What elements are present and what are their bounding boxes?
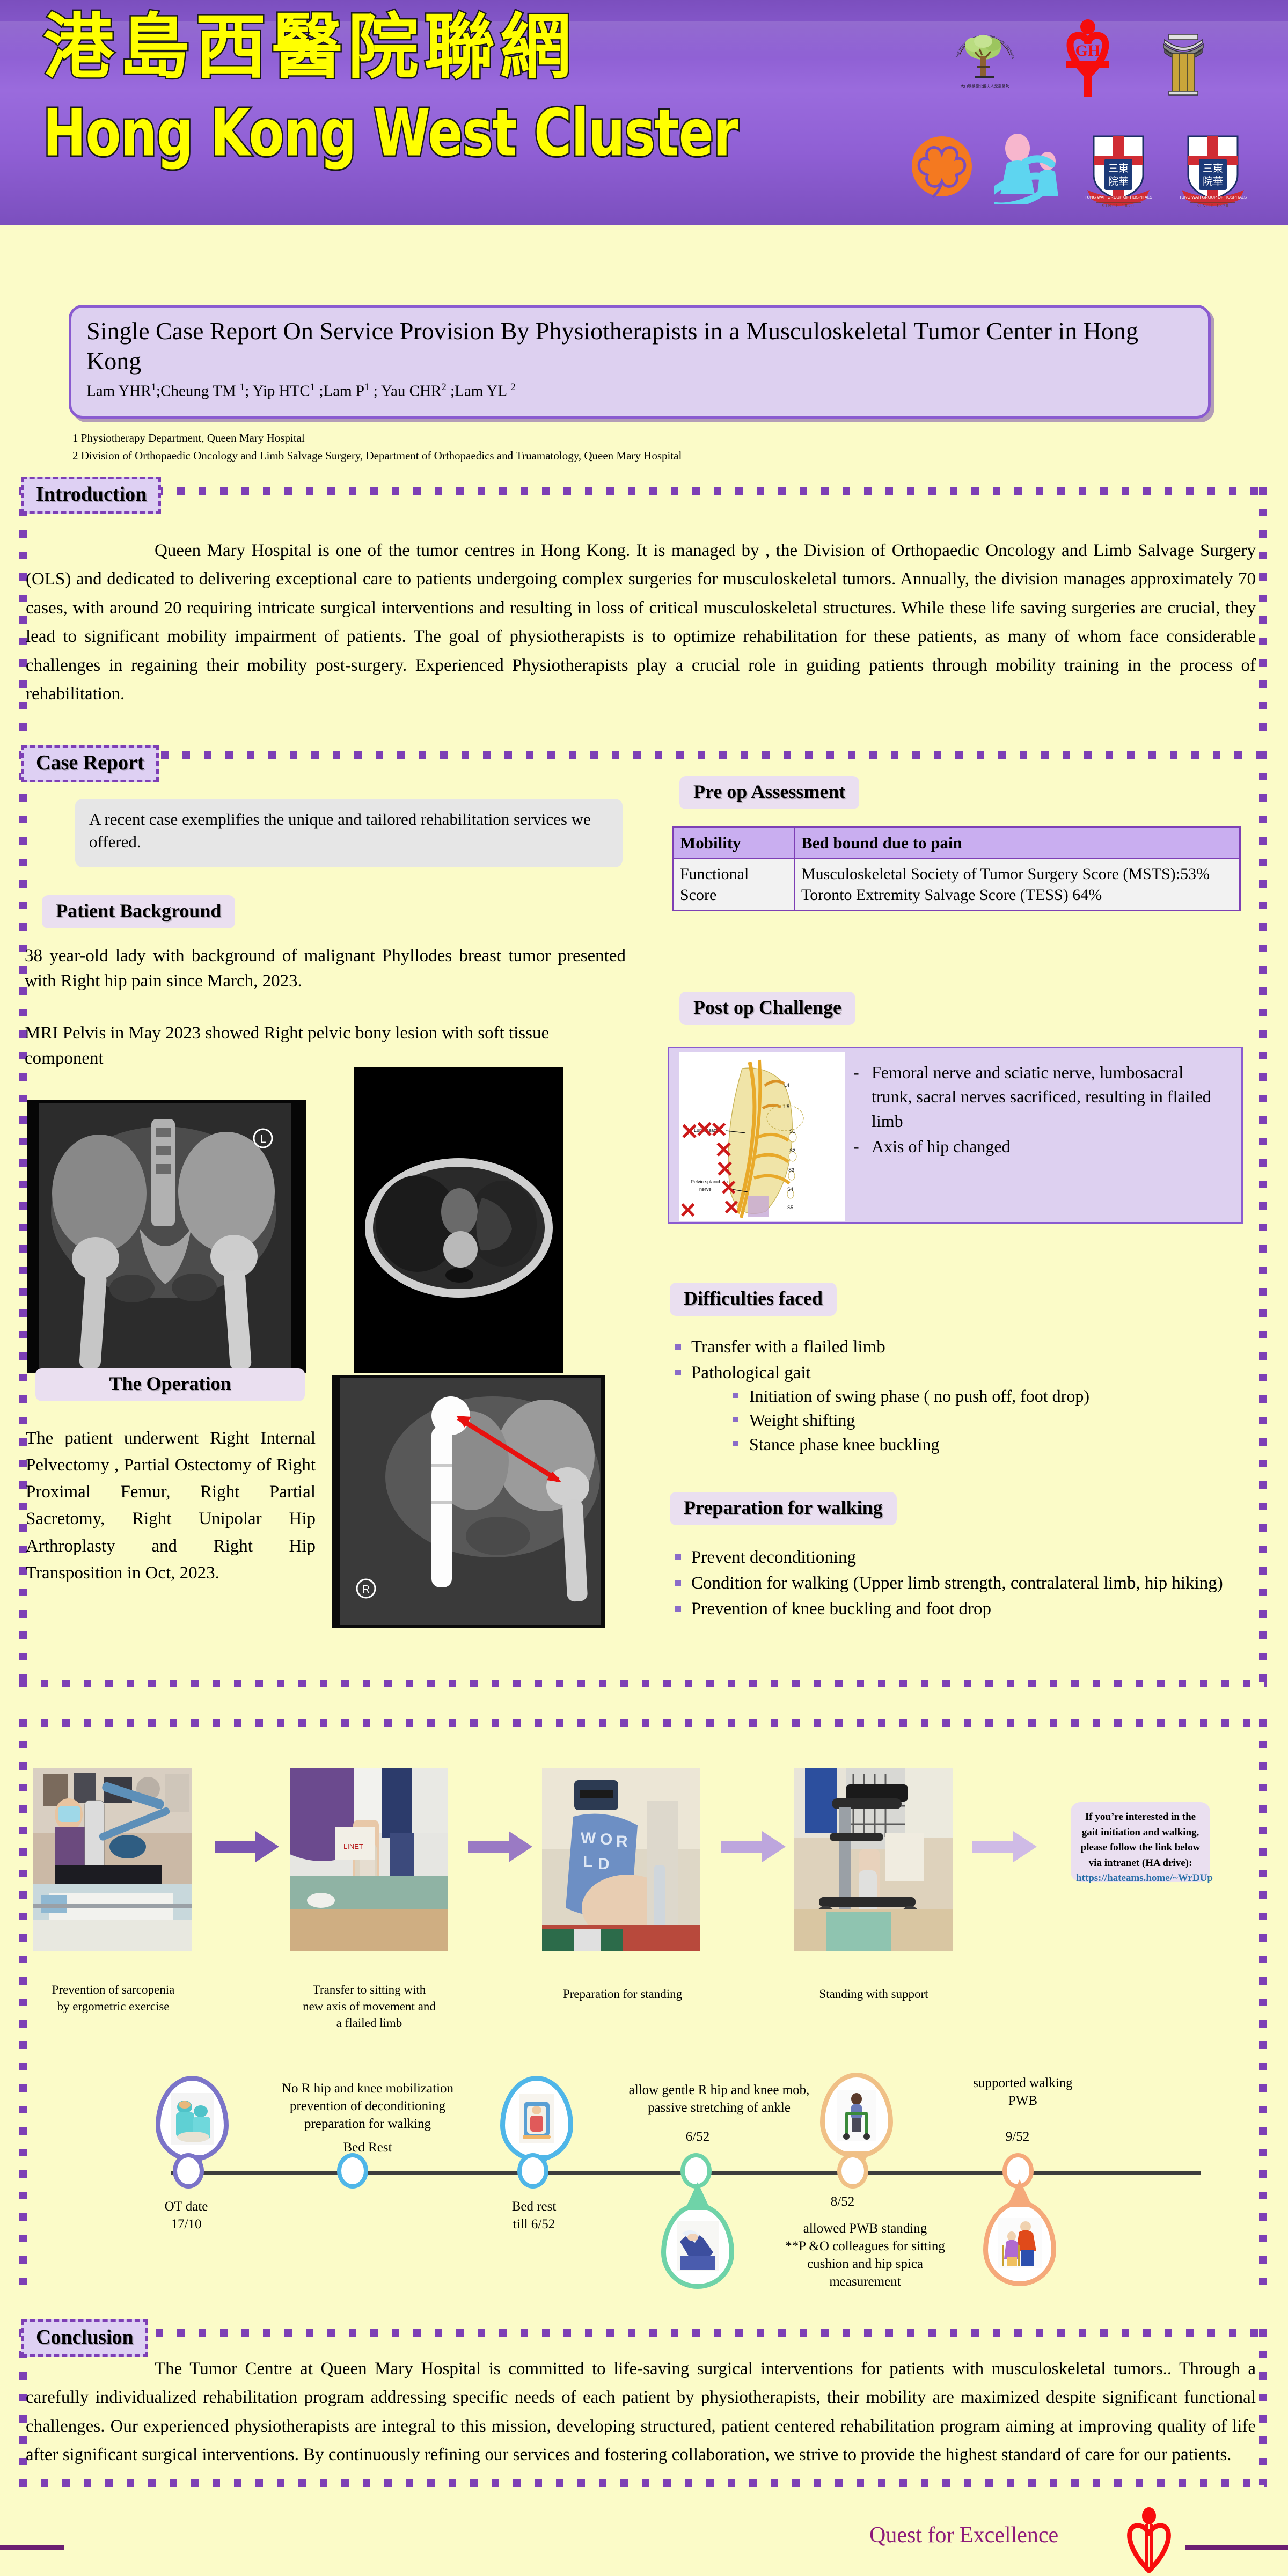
difficulty-2-sub-3: Stance phase knee buckling (749, 1435, 940, 1454)
assisted-walking-icon (998, 2218, 1042, 2268)
case-intro-box: A recent case exemplifies the unique and… (75, 799, 623, 867)
timeline-node-3[interactable] (517, 2153, 548, 2189)
tsan-yuk-hospital-logo (908, 134, 976, 202)
standing-frame-icon (837, 2090, 876, 2141)
conclusion-border-bottom (19, 2479, 1267, 2487)
svg-text:W: W (581, 1829, 596, 1847)
subsection-tag-preparation: Preparation for walking (670, 1492, 897, 1525)
preop-key-mobility: Mobility (673, 828, 795, 859)
list-item: Condition for walking (Upper limb streng… (669, 1571, 1254, 1595)
photostrip-border-right (1259, 1719, 1267, 2297)
difficulty-2-sub-1: Initiation of swing phase ( no push off,… (749, 1386, 1089, 1406)
photo-transfer-to-sitting: LINET (290, 1768, 448, 1951)
subsection-tag-patient-background: Patient Background (42, 895, 235, 928)
svg-text:D: D (598, 1855, 610, 1873)
svg-text:S1: S1 (789, 1129, 795, 1134)
svg-text:院華: 院華 (1203, 175, 1223, 187)
xray-side-marker-left: L (260, 1133, 266, 1145)
surgery-team-icon (171, 2093, 214, 2145)
difficulties-list: Transfer with a flailed limb Pathologica… (669, 1335, 1248, 1458)
affiliations: 1 Physiotherapy Department, Queen Mary H… (72, 429, 1199, 464)
timeline-below-5: allowed PWB standing **P &O colleagues f… (758, 2220, 972, 2290)
photo-caption-2: Transfer to sitting with new axis of mov… (273, 1981, 466, 2031)
poster-header: 港島西醫院聯網 Hong Kong West Cluster THE DUCHE… (0, 0, 1288, 225)
patient-background-line-1: 38 year-old lady with background of mali… (25, 943, 626, 994)
timeline-pin-4 (661, 2203, 734, 2289)
timeline-pin-6 (983, 2200, 1056, 2286)
duchess-of-kent-childrens-hospital-logo: THE DUCHESS OF KENT CHILDRENS HOSPITAL A… (950, 24, 1020, 94)
timeline-node-2[interactable] (337, 2153, 368, 2189)
gait-link-text: If you’re interested in the gait initiat… (1081, 1811, 1201, 1869)
conclusion-border-top (134, 2329, 1267, 2337)
conclusion-border-right (1259, 2329, 1267, 2485)
pin-tip (1007, 2179, 1033, 2207)
list-item: Stance phase knee buckling (727, 1433, 1248, 1456)
subsection-tag-difficulties: Difficulties faced (670, 1283, 837, 1316)
svg-text:L5: L5 (784, 1104, 789, 1109)
preparation-2: Condition for walking (Upper limb streng… (691, 1574, 1223, 1593)
svg-text:LINET: LINET (343, 1842, 363, 1850)
pelvis-xray-postop: R (332, 1375, 605, 1628)
list-item: Transfer with a flailed limb (669, 1335, 1248, 1359)
poster-title-card: Single Case Report On Service Provision … (69, 305, 1211, 419)
subsection-tag-pre-op-assessment: Pre op Assessment (679, 776, 859, 809)
arrow-icon-1 (215, 1830, 279, 1866)
operation-text: The patient underwent Right Internal Pel… (26, 1425, 316, 1586)
difficulty-2-sub-2: Weight shifting (749, 1410, 855, 1430)
sacral-plexus-nerve-diagram: L4L5 S1S2 S3S4S5 Lumbosacral Pelvic spla… (679, 1052, 845, 1221)
list-item: Initiation of swing phase ( no push off,… (727, 1385, 1248, 1408)
timeline-label-6: 9/52 (980, 2128, 1055, 2146)
gait-link-url[interactable]: https://hateams.home/~WrDUp (1076, 1872, 1213, 1884)
footer-rule-left (0, 2545, 64, 2550)
xray-side-marker-right: R (362, 1584, 370, 1596)
svg-text:S2: S2 (789, 1148, 795, 1153)
svg-text:S4: S4 (787, 1187, 793, 1192)
affiliation-1: 1 Physiotherapy Department, Queen Mary H… (72, 429, 1199, 447)
subsection-tag-post-op-challenge: Post op Challenge (679, 992, 855, 1025)
timeline-above-2: No R hip and knee mobilization preventio… (244, 2080, 491, 2133)
pre-op-assessment-table: Mobility Bed bound due to pain Functiona… (672, 826, 1241, 911)
list-item: -Femoral nerve and sciatic nerve, lumbos… (853, 1060, 1224, 1133)
case-border-bottom (19, 1680, 1267, 1687)
header-english-title: Hong Kong West Cluster (43, 101, 738, 165)
list-item: -Axis of hip changed (853, 1135, 1224, 1159)
tung-wah-group-of-hospitals-logo-2: 三東 院華 TUNG WAH GROUP OF HOSPITALS SINCE … (1179, 132, 1247, 207)
patient-in-bed-icon (519, 2094, 554, 2143)
introduction-text: Queen Mary Hospital is one of the tumor … (26, 537, 1256, 709)
preparation-3: Prevention of knee buckling and foot dro… (691, 1599, 991, 1619)
preop-value-mobility: Bed bound due to pain (794, 828, 1240, 859)
svg-text:三東: 三東 (1203, 163, 1223, 174)
photo-caption-1: Prevention of sarcopenia by ergometric e… (19, 1981, 207, 2015)
list-item: Weight shifting (727, 1409, 1248, 1432)
duchess-logo-caption: 大口環根德公爵夫人兒童醫院 (961, 84, 1009, 89)
table-row: Mobility Bed bound due to pain (673, 828, 1240, 859)
page-title: Single Case Report On Service Provision … (86, 316, 1193, 376)
photo-standing-with-support (794, 1768, 953, 1951)
queen-mary-hospital-logo (994, 133, 1067, 204)
affiliation-2: 2 Division of Orthopaedic Oncology and L… (72, 447, 1199, 465)
svg-text:三東: 三東 (1108, 163, 1129, 174)
svg-text:R: R (616, 1833, 628, 1850)
intro-border-right (1259, 487, 1267, 734)
timeline-above-6: supported walking PWB (937, 2074, 1109, 2110)
timeline-node-1[interactable] (173, 2153, 204, 2189)
pelvis-xray-preop: L (27, 1100, 306, 1373)
svg-text:TUNG WAH GROUP OF HOSPITALS: TUNG WAH GROUP OF HOSPITALS (1179, 195, 1247, 200)
svg-text:TUNG WAH GROUP OF HOSPITALS: TUNG WAH GROUP OF HOSPITALS (1085, 195, 1152, 200)
arrow-icon-4 (972, 1830, 1037, 1866)
passive-stretch-icon (677, 2221, 719, 2271)
photostrip-border-top (19, 1719, 1267, 1727)
subsection-tag-operation: The Operation (35, 1368, 305, 1401)
conclusion-text: The Tumor Centre at Queen Mary Hospital … (26, 2355, 1256, 2470)
photo-ergometric-exercise (33, 1768, 192, 1951)
svg-text:✕: ✕ (679, 1199, 697, 1221)
hospital-authority-heart-logo (1119, 2507, 1179, 2573)
preparation-list: Prevent deconditioning Condition for wal… (669, 1546, 1254, 1623)
svg-text:L4: L4 (784, 1082, 789, 1088)
section-tag-introduction: Introduction (21, 477, 161, 514)
post-op-point-2: Axis of hip changed (872, 1135, 1011, 1159)
mri-pelvis-axial (354, 1067, 563, 1373)
grantham-logo-text: GH (1075, 42, 1101, 60)
table-row: Functional Score Musculoskeletal Society… (673, 859, 1240, 911)
intro-border-top (113, 487, 1267, 495)
patient-background-line-2: MRI Pelvis in May 2023 showed Right pelv… (25, 1021, 626, 1071)
preop-key-functional-score: Functional Score (673, 859, 795, 911)
header-chinese-title: 港島西醫院聯網 (43, 12, 576, 83)
svg-text:院華: 院華 (1108, 175, 1129, 187)
photo-caption-3: Preparation for standing (531, 1986, 714, 2002)
timeline-label-3: Bed rest till 6/52 (467, 2198, 601, 2233)
author-list: Lam YHR1;Cheung TM 1; Yip HTC1 ;Lam P1 ;… (86, 382, 1193, 400)
grantham-hospital-logo: GH (1053, 16, 1123, 102)
arrow-icon-2 (468, 1830, 532, 1866)
preparation-1: Prevent deconditioning (691, 1548, 856, 1567)
difficulty-1: Transfer with a flailed limb (691, 1337, 885, 1357)
photo-preparation-for-standing: WOR LD (542, 1768, 700, 1951)
svg-text:nerve: nerve (699, 1187, 712, 1192)
list-item: Prevention of knee buckling and foot dro… (669, 1597, 1254, 1621)
svg-text:L: L (583, 1853, 592, 1871)
timeline-node-5[interactable] (837, 2153, 868, 2189)
preop-value-functional-score: Musculoskeletal Society of Tumor Surgery… (794, 859, 1240, 911)
post-op-point-1: Femoral nerve and sciatic nerve, lumbosa… (872, 1060, 1224, 1133)
post-op-challenge-points: -Femoral nerve and sciatic nerve, lumbos… (853, 1060, 1224, 1160)
photo-caption-4: Standing with support (782, 1986, 965, 2002)
timeline-pin-3 (500, 2076, 573, 2162)
svg-text:SINCE 1870: SINCE 1870 (1196, 203, 1229, 207)
timeline-label-5: 8/52 (805, 2193, 880, 2211)
svg-text:O: O (600, 1831, 612, 1848)
tung-wah-group-of-hospitals-logo-1: 三東 院華 TUNG WAH GROUP OF HOSPITALS SINCE … (1084, 132, 1153, 207)
difficulty-2: Pathological gait (691, 1363, 811, 1382)
timeline-label-2: Bed Rest (298, 2139, 437, 2156)
case-border-right (1259, 751, 1267, 1685)
svg-text:S5: S5 (787, 1205, 793, 1210)
footer-rule-right (1185, 2545, 1288, 2550)
section-tag-case-report: Case Report (21, 745, 159, 782)
svg-text:S3: S3 (788, 1167, 794, 1173)
svg-text:✕: ✕ (723, 1197, 740, 1219)
pin-tip (685, 2182, 711, 2210)
svg-text:SINCE 1870: SINCE 1870 (1102, 203, 1135, 207)
list-item: Pathological gait Initiation of swing ph… (669, 1361, 1248, 1456)
maclehose-medical-rehabilitation-centre-logo (1154, 16, 1213, 102)
dash-bullet: - (853, 1135, 863, 1159)
timeline-above-4: allow gentle R hip and knee mob, passive… (596, 2081, 843, 2117)
timeline-label-4: 6/52 (649, 2128, 746, 2146)
gait-link-box[interactable]: If you’re interested in the gait initiat… (1071, 1802, 1210, 1882)
footer-slogan: Quest for Excellence (869, 2522, 1058, 2548)
timeline-pin-1 (156, 2076, 229, 2162)
list-item: Prevent deconditioning (669, 1546, 1254, 1569)
difficulties-sublist: Initiation of swing phase ( no push off,… (691, 1385, 1248, 1456)
timeline-label-1: OT date 17/10 (119, 2198, 253, 2233)
case-border-top (161, 751, 1267, 759)
dash-bullet: - (853, 1060, 863, 1133)
section-tag-conclusion: Conclusion (21, 2319, 148, 2357)
arrow-icon-3 (721, 1830, 786, 1866)
